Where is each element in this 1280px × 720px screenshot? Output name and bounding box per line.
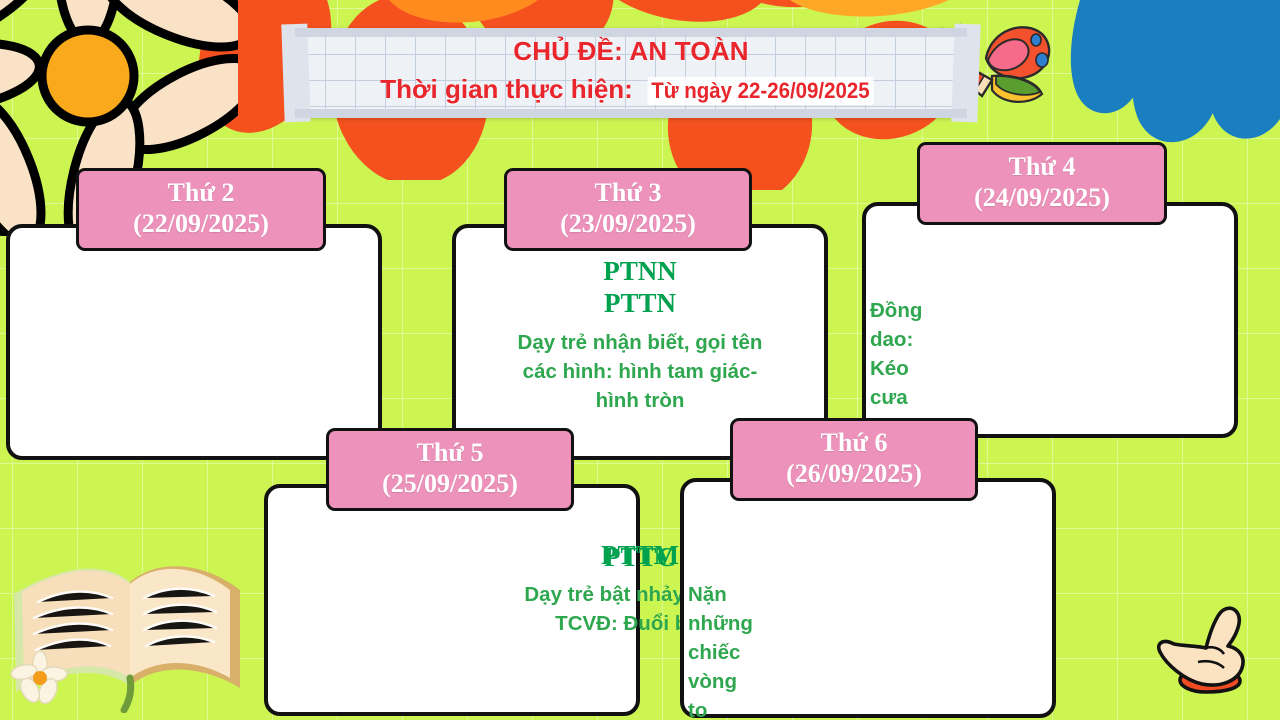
day-label: Thứ 5 [345, 438, 555, 469]
day-label: Thứ 6 [749, 428, 959, 459]
date-label: (26/09/2025) [749, 459, 959, 490]
date-label: (23/09/2025) [523, 209, 733, 240]
date-label: (22/09/2025) [95, 209, 307, 240]
day-label: Thứ 4 [936, 152, 1148, 183]
activity-code-wed: PTNN [0, 256, 1280, 287]
activity-line: Dạy trẻ nhận biết, gọi tên [462, 328, 818, 357]
activity-line: các hình: hình tam giác- [462, 357, 818, 386]
day-header-thu[interactable]: Thứ 5 (25/09/2025) [326, 428, 574, 511]
cartoon-hand-icon [1150, 596, 1268, 708]
day-label: Thứ 2 [95, 178, 307, 209]
date-range: Từ ngày 22-26/09/2025 [647, 77, 873, 105]
activity-lines-tue: Dạy trẻ nhận biết, gọi tên các hình: hìn… [462, 328, 818, 415]
time-label: Thời gian thực hiện: [380, 74, 633, 105]
day-header-wed[interactable]: Thứ 4 (24/09/2025) [917, 142, 1167, 225]
activity-line: hình tròn [462, 386, 818, 415]
date-label: (25/09/2025) [345, 469, 555, 500]
day-header-mon[interactable]: Thứ 2 (22/09/2025) [76, 168, 326, 251]
activity-code-fri: PTTM [0, 540, 1280, 571]
banner-torn-edge-bottom [295, 109, 967, 118]
day-header-tue[interactable]: Thứ 3 (23/09/2025) [504, 168, 752, 251]
time-range-row: Thời gian thực hiện: Từ ngày 22-26/09/20… [295, 74, 967, 105]
date-label: (24/09/2025) [936, 183, 1148, 214]
weekly-plan-poster: CHỦ ĐỀ: AN TOÀN Thời gian thực hiện: Từ … [0, 0, 1280, 720]
day-header-fri[interactable]: Thứ 6 (26/09/2025) [730, 418, 978, 501]
title-banner: CHỦ ĐỀ: AN TOÀN Thời gian thực hiện: Từ … [295, 28, 967, 118]
day-label: Thứ 3 [523, 178, 733, 209]
topic-title: CHỦ ĐỀ: AN TOÀN [295, 36, 967, 67]
